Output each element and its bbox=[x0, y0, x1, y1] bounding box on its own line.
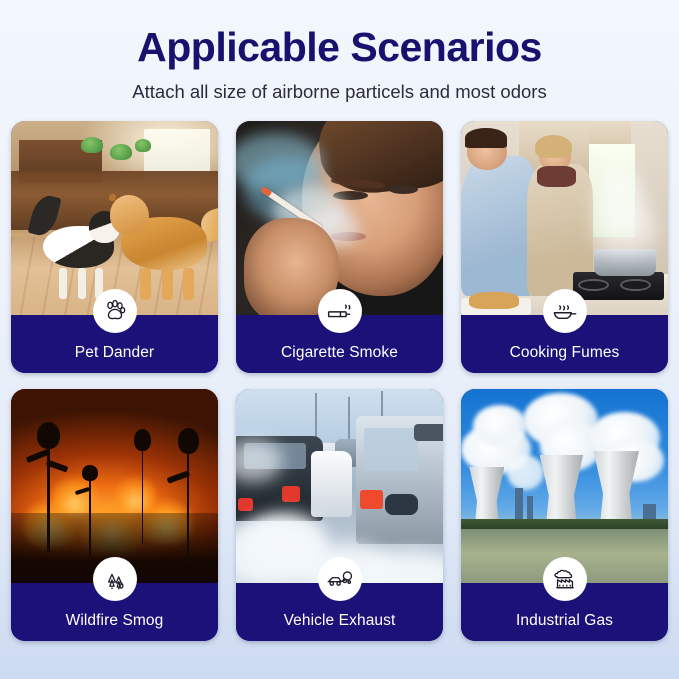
cigarette-icon bbox=[318, 289, 362, 333]
frying-pan-icon bbox=[543, 289, 587, 333]
scenario-photo-cigarette-smoke bbox=[236, 121, 443, 315]
scenario-photo-industrial-gas bbox=[461, 389, 668, 583]
scenario-label: Cooking Fumes bbox=[510, 345, 620, 361]
scenario-label: Pet Dander bbox=[75, 345, 154, 361]
scenario-grid: Pet Dander bbox=[18, 121, 661, 641]
factory-icon bbox=[543, 557, 587, 601]
scenario-label: Wildfire Smog bbox=[66, 613, 164, 629]
car-exhaust-icon bbox=[318, 557, 362, 601]
page-title: Applicable Scenarios bbox=[18, 26, 661, 69]
page-header: Applicable Scenarios Attach all size of … bbox=[18, 0, 661, 103]
scenario-photo-wildfire-smog bbox=[11, 389, 218, 583]
scenario-label: Vehicle Exhaust bbox=[284, 613, 396, 629]
scenario-card-industrial-gas[interactable]: Industrial Gas bbox=[461, 389, 668, 641]
scenario-card-vehicle-exhaust[interactable]: Vehicle Exhaust bbox=[236, 389, 443, 641]
scenario-card-cigarette-smoke[interactable]: Cigarette Smoke bbox=[236, 121, 443, 373]
scenario-photo-vehicle-exhaust bbox=[236, 389, 443, 583]
scenario-label: Industrial Gas bbox=[516, 613, 613, 629]
scenario-photo-pet-dander bbox=[11, 121, 218, 315]
forest-fire-icon bbox=[93, 557, 137, 601]
paw-print-icon bbox=[93, 289, 137, 333]
scenario-card-pet-dander[interactable]: Pet Dander bbox=[11, 121, 218, 373]
scenario-card-cooking-fumes[interactable]: Cooking Fumes bbox=[461, 121, 668, 373]
page-subtitle: Attach all size of airborne particels an… bbox=[18, 81, 661, 103]
scenario-label: Cigarette Smoke bbox=[281, 345, 398, 361]
scenario-photo-cooking-fumes bbox=[461, 121, 668, 315]
scenario-card-wildfire-smog[interactable]: Wildfire Smog bbox=[11, 389, 218, 641]
applicable-scenarios-page: Applicable Scenarios Attach all size of … bbox=[0, 0, 679, 679]
